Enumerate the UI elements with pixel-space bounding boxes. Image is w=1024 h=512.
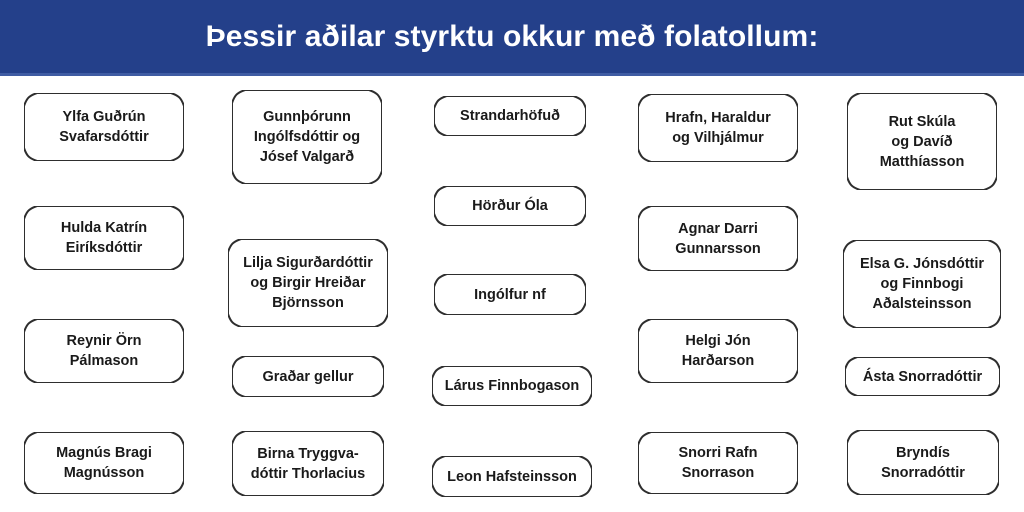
sponsor-name: Bryndís Snorradóttir — [881, 443, 965, 483]
sponsor-plaque: Elsa G. Jónsdóttir og Finnbogi Aðalstein… — [843, 240, 1001, 328]
sponsor-plaque: Lilja Sigurðardóttir og Birgir Hreiðar B… — [228, 239, 388, 327]
sponsor-plaque: Hulda Katrín Eiríksdóttir — [24, 206, 184, 270]
sponsor-name: Agnar Darri Gunnarsson — [675, 219, 760, 259]
sponsor-plaque: Agnar Darri Gunnarsson — [638, 206, 798, 271]
sponsor-plaque: Strandarhöfuð — [434, 96, 586, 136]
sponsor-name: Lilja Sigurðardóttir og Birgir Hreiðar B… — [243, 253, 373, 313]
sponsor-name: Ásta Snorradóttir — [863, 367, 982, 387]
sponsor-board-page: Þessir aðilar styrktu okkur með folatoll… — [0, 0, 1024, 512]
sponsor-plaque: Reynir Örn Pálmason — [24, 319, 184, 383]
sponsor-plaque: Snorri Rafn Snorrason — [638, 432, 798, 494]
sponsor-name: Snorri Rafn Snorrason — [679, 443, 758, 483]
sponsor-plaque: Graðar gellur — [232, 356, 384, 397]
sponsor-plaque: Hörður Óla — [434, 186, 586, 226]
header-divider-rule — [0, 73, 1024, 76]
sponsor-name: Ingólfur nf — [474, 285, 546, 305]
sponsor-name: Magnús Bragi Magnússon — [56, 443, 152, 483]
page-title: Þessir aðilar styrktu okkur með folatoll… — [0, 0, 1024, 73]
sponsor-name: Rut Skúla og Davíð Matthíasson — [880, 112, 965, 172]
sponsor-plaque: Birna Tryggva- dóttir Thorlacius — [232, 431, 384, 496]
sponsor-name: Helgi Jón Harðarson — [682, 331, 755, 371]
sponsor-name: Reynir Örn Pálmason — [67, 331, 142, 371]
sponsor-name: Ylfa Guðrún Svafarsdóttir — [59, 107, 148, 147]
sponsor-plaque: Ylfa Guðrún Svafarsdóttir — [24, 93, 184, 161]
sponsor-name: Lárus Finnbogason — [445, 376, 580, 396]
sponsor-name: Elsa G. Jónsdóttir og Finnbogi Aðalstein… — [860, 254, 984, 314]
sponsor-name: Gunnþórunn Ingólfsdóttir og Jósef Valgar… — [254, 107, 360, 167]
sponsor-plaque: Bryndís Snorradóttir — [847, 430, 999, 495]
sponsor-name: Graðar gellur — [262, 367, 353, 387]
sponsor-name: Hulda Katrín Eiríksdóttir — [61, 218, 147, 258]
sponsor-plaque: Gunnþórunn Ingólfsdóttir og Jósef Valgar… — [232, 90, 382, 184]
sponsor-plaque: Lárus Finnbogason — [432, 366, 592, 406]
sponsor-name: Hrafn, Haraldur og Vilhjálmur — [665, 108, 771, 148]
sponsor-plaque: Magnús Bragi Magnússon — [24, 432, 184, 494]
sponsor-name: Hörður Óla — [472, 196, 548, 216]
sponsor-plaque: Ingólfur nf — [434, 274, 586, 315]
sponsor-plaque: Leon Hafsteinsson — [432, 456, 592, 497]
sponsor-name: Strandarhöfuð — [460, 106, 560, 126]
sponsor-name: Birna Tryggva- dóttir Thorlacius — [251, 444, 365, 484]
sponsor-plaque: Ásta Snorradóttir — [845, 357, 1000, 396]
sponsor-plaque: Hrafn, Haraldur og Vilhjálmur — [638, 94, 798, 162]
sponsor-plaque: Helgi Jón Harðarson — [638, 319, 798, 383]
sponsor-plaque: Rut Skúla og Davíð Matthíasson — [847, 93, 997, 190]
sponsor-name: Leon Hafsteinsson — [447, 467, 577, 487]
